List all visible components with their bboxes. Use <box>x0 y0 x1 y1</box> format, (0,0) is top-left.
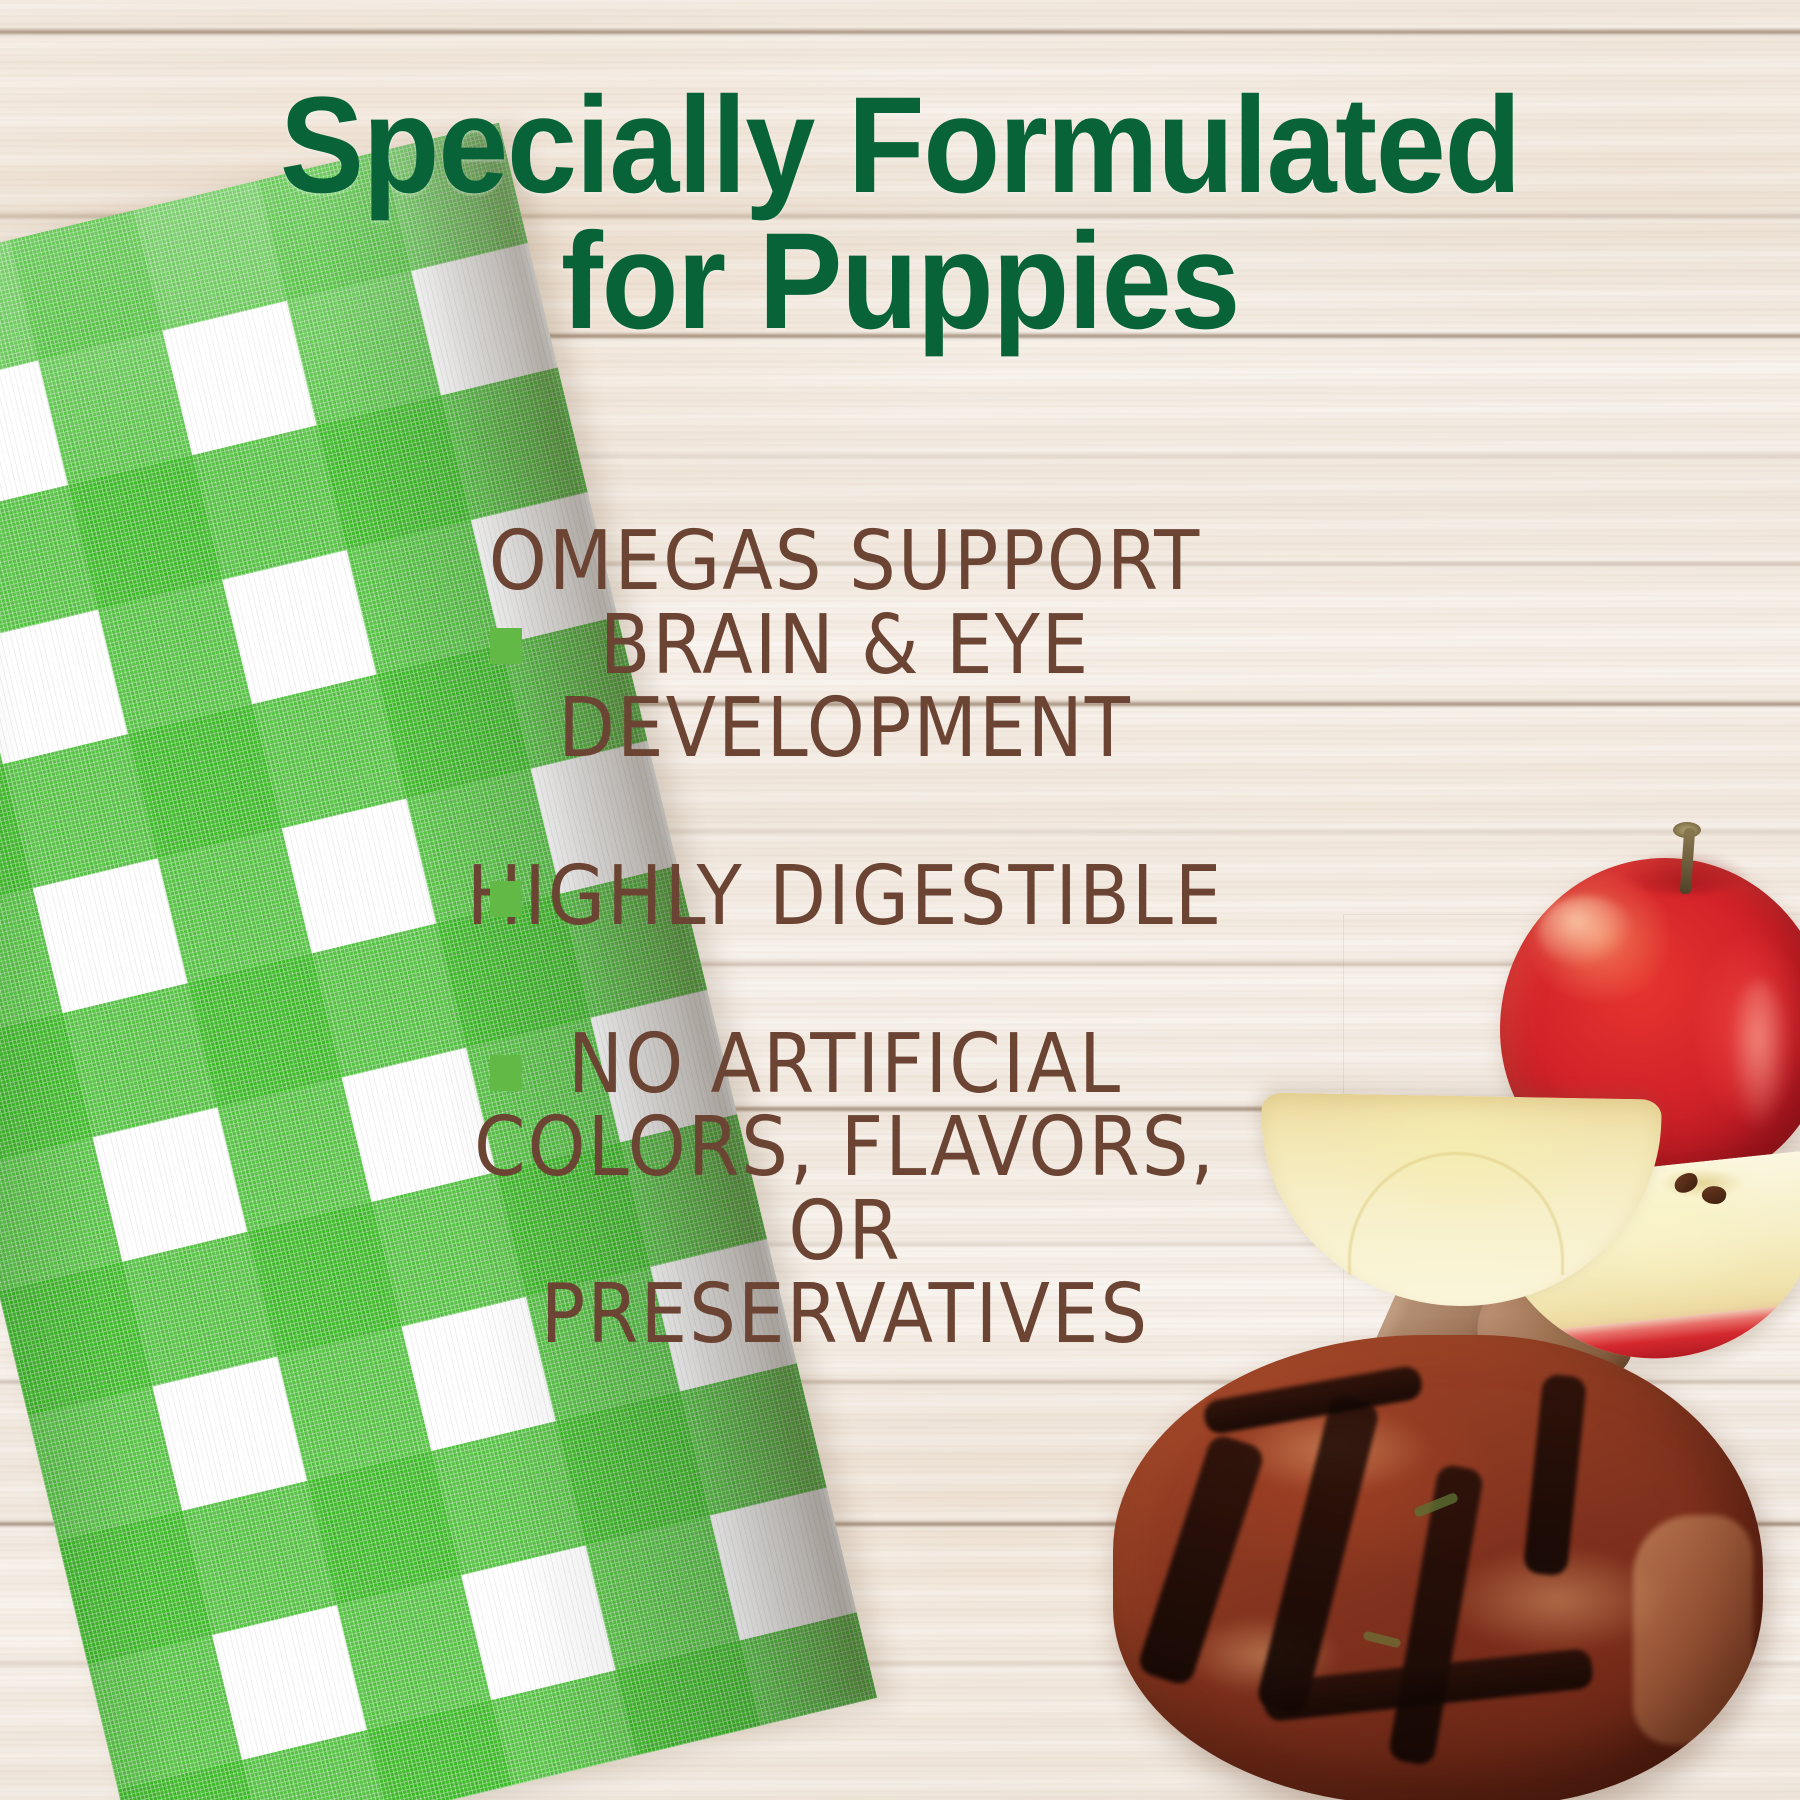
apple-highlight <box>1730 980 1788 1130</box>
wood-plank-seam <box>0 28 1800 37</box>
apple-highlight <box>1538 896 1634 968</box>
square-bullet-icon <box>490 628 522 664</box>
chop-fat-edge <box>1633 1515 1753 1745</box>
headline-line-1: Specially Formulated <box>280 69 1520 222</box>
list-item: OMEGAS SUPPORT BRAIN & EYE DEVELOPMENT <box>430 520 1260 771</box>
square-bullet-icon <box>490 1055 522 1091</box>
headline-line-2: for Puppies <box>72 214 1728 350</box>
feature-text-digestible: HIGHLY DIGESTIBLE <box>467 849 1224 944</box>
apple-image <box>1230 800 1800 1440</box>
feature-text-omegas: OMEGAS SUPPORT BRAIN & EYE DEVELOPMENT <box>489 514 1201 776</box>
list-item: HIGHLY DIGESTIBLE <box>430 855 1260 939</box>
apple-slice-skin <box>1489 1298 1800 1374</box>
herb-sprig <box>1362 1631 1401 1649</box>
square-bullet-icon <box>490 881 522 917</box>
page-title: Specially Formulated for Puppies <box>72 78 1728 349</box>
product-feature-banner: Specially Formulated for Puppies OMEGAS … <box>0 0 1800 1800</box>
